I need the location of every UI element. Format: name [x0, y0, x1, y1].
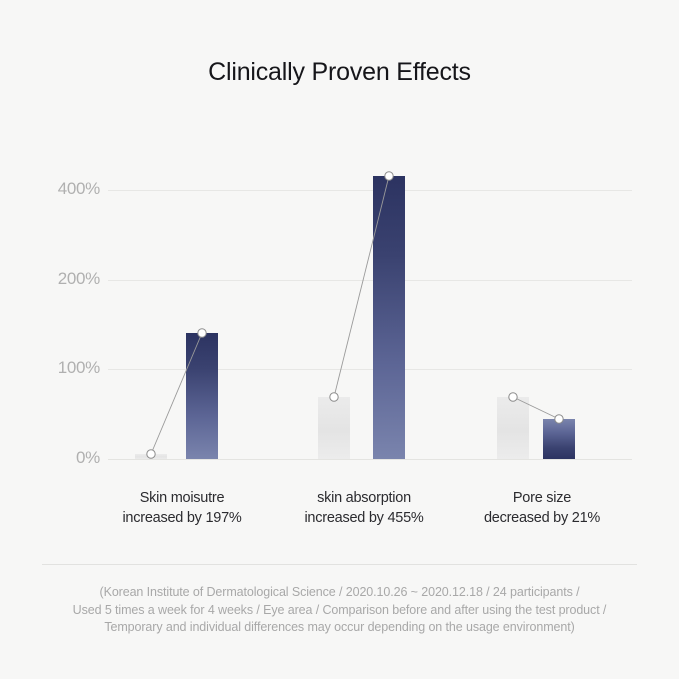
footnote-line-3: Temporary and individual differences may… — [0, 619, 679, 637]
category-label-skin-absorption-line2: increased by 455% — [278, 508, 450, 528]
bar-after-skin-moisture[interactable] — [186, 333, 218, 459]
footnote: (Korean Institute of Dermatological Scie… — [0, 584, 679, 637]
gridline-baseline-0 — [108, 459, 632, 460]
page-title: Clinically Proven Effects — [0, 58, 679, 87]
category-label-skin-moisture: Skin moisutre increased by 197% — [96, 488, 268, 528]
category-label-pore-size-line1: Pore size — [456, 488, 628, 508]
y-axis-tick-0: 0% — [30, 448, 100, 468]
category-label-pore-size-line2: decreased by 21% — [456, 508, 628, 528]
bar-before-skin-moisture[interactable] — [135, 454, 167, 459]
gridline-200 — [108, 280, 632, 281]
footer-divider — [42, 564, 637, 565]
y-axis-tick-400: 400% — [30, 179, 100, 199]
y-axis-tick-200: 200% — [30, 269, 100, 289]
bar-before-pore-size[interactable] — [497, 397, 529, 459]
category-label-skin-absorption: skin absorption increased by 455% — [278, 488, 450, 528]
category-label-skin-moisture-line2: increased by 197% — [96, 508, 268, 528]
gridline-400 — [108, 190, 632, 191]
infographic-root: Clinically Proven Effects 400% 200% 100%… — [0, 0, 679, 679]
category-label-pore-size: Pore size decreased by 21% — [456, 488, 628, 528]
bar-before-skin-absorption[interactable] — [318, 397, 350, 459]
bar-after-skin-absorption[interactable] — [373, 176, 405, 459]
category-label-skin-moisture-line1: Skin moisutre — [96, 488, 268, 508]
y-axis-tick-100: 100% — [30, 358, 100, 378]
category-label-skin-absorption-line1: skin absorption — [278, 488, 450, 508]
chart-plot-area: 400% 200% 100% 0% — [108, 150, 632, 462]
footnote-line-2: Used 5 times a week for 4 weeks / Eye ar… — [0, 602, 679, 620]
footnote-line-1: (Korean Institute of Dermatological Scie… — [0, 584, 679, 602]
bar-after-pore-size[interactable] — [543, 419, 575, 459]
